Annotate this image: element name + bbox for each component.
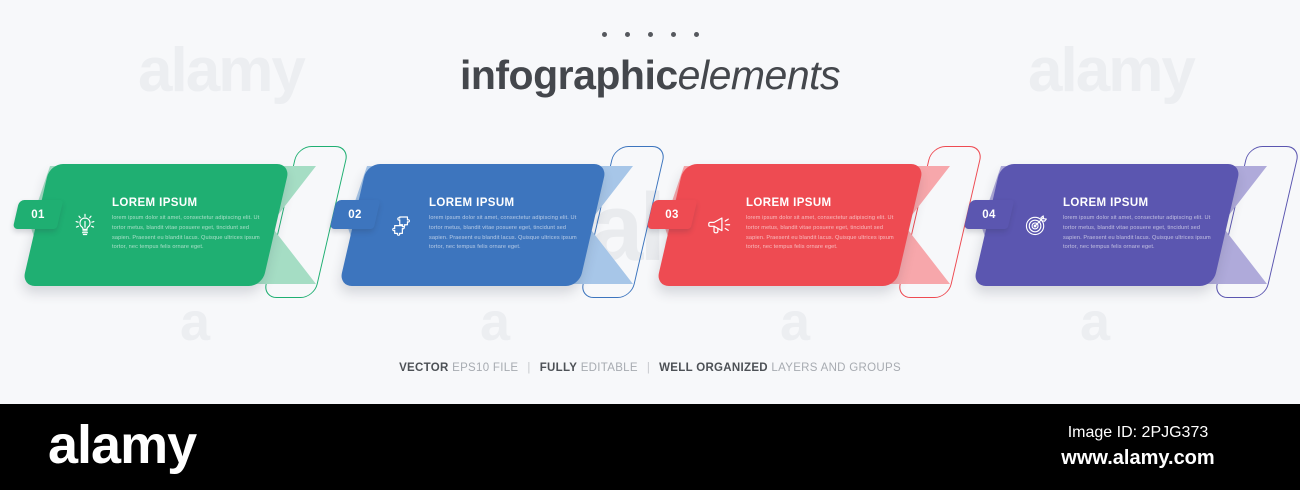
- title-dot: [602, 32, 607, 37]
- card-row: LOREM IPSUM lorem ipsum dolor sit amet, …: [0, 140, 1300, 310]
- card-content: LOREM IPSUM lorem ipsum dolor sit amet, …: [670, 164, 920, 286]
- card-content: LOREM IPSUM lorem ipsum dolor sit amet, …: [987, 164, 1237, 286]
- infographic-canvas: alamy alamy alamy a a a a infographicele…: [0, 0, 1300, 490]
- page-title-bold: infographic: [460, 52, 678, 98]
- card-number-label: 04: [967, 200, 1011, 229]
- card-body: lorem ipsum dolor sit amet, consectetur …: [746, 214, 898, 252]
- title-dots: [0, 32, 1300, 37]
- card-title: LOREM IPSUM: [1063, 197, 1237, 209]
- infographic-card-02[interactable]: LOREM IPSUM lorem ipsum dolor sit amet, …: [325, 140, 655, 310]
- card-number-label: 02: [333, 200, 377, 229]
- card-number-label: 03: [650, 200, 694, 229]
- alamy-watermark-bar: alamy Image ID: 2PJG373 www.alamy.com: [0, 404, 1300, 490]
- alamy-image-id: Image ID: 2PJG373: [1018, 424, 1258, 442]
- card-title: LOREM IPSUM: [746, 197, 920, 209]
- title-dot: [694, 32, 699, 37]
- footer-separator-2: |: [638, 362, 659, 374]
- target-icon: [1021, 210, 1051, 240]
- title-dot: [648, 32, 653, 37]
- footer-organized-bold: WELL ORGANIZED: [659, 362, 768, 374]
- alamy-logo: alamy: [48, 418, 196, 472]
- footer-fully-bold: FULLY: [540, 362, 578, 374]
- card-text-block: LOREM IPSUM lorem ipsum dolor sit amet, …: [108, 197, 286, 252]
- card-content: LOREM IPSUM lorem ipsum dolor sit amet, …: [36, 164, 286, 286]
- page-title: infographicelements: [0, 52, 1300, 99]
- footer-vector-bold: VECTOR: [399, 362, 449, 374]
- card-text-block: LOREM IPSUM lorem ipsum dolor sit amet, …: [742, 197, 920, 252]
- card-title: LOREM IPSUM: [429, 197, 603, 209]
- puzzle-icon: [387, 210, 417, 240]
- infographic-card-01[interactable]: LOREM IPSUM lorem ipsum dolor sit amet, …: [8, 140, 338, 310]
- card-title: LOREM IPSUM: [112, 197, 286, 209]
- footer-vector-rest: EPS10 FILE: [452, 362, 518, 374]
- card-content: LOREM IPSUM lorem ipsum dolor sit amet, …: [353, 164, 603, 286]
- card-text-block: LOREM IPSUM lorem ipsum dolor sit amet, …: [425, 197, 603, 252]
- lightbulb-icon: [70, 210, 100, 240]
- title-dot: [625, 32, 630, 37]
- footer-separator-1: |: [518, 362, 539, 374]
- alamy-meta: Image ID: 2PJG373 www.alamy.com: [1018, 424, 1258, 470]
- footer-organized-rest: LAYERS AND GROUPS: [771, 362, 901, 374]
- footer-fully-rest: EDITABLE: [581, 362, 638, 374]
- card-number-label: 01: [16, 200, 60, 229]
- card-text-block: LOREM IPSUM lorem ipsum dolor sit amet, …: [1059, 197, 1237, 252]
- infographic-card-03[interactable]: LOREM IPSUM lorem ipsum dolor sit amet, …: [642, 140, 972, 310]
- footer-note: VECTOR EPS10 FILE|FULLY EDITABLE|WELL OR…: [0, 362, 1300, 374]
- card-body: lorem ipsum dolor sit amet, consectetur …: [1063, 214, 1215, 252]
- card-body: lorem ipsum dolor sit amet, consectetur …: [429, 214, 581, 252]
- page-title-italic: elements: [678, 52, 840, 98]
- infographic-card-04[interactable]: LOREM IPSUM lorem ipsum dolor sit amet, …: [959, 140, 1289, 310]
- card-body: lorem ipsum dolor sit amet, consectetur …: [112, 214, 264, 252]
- title-dot: [671, 32, 676, 37]
- alamy-url[interactable]: www.alamy.com: [1018, 447, 1258, 470]
- megaphone-icon: [704, 210, 734, 240]
